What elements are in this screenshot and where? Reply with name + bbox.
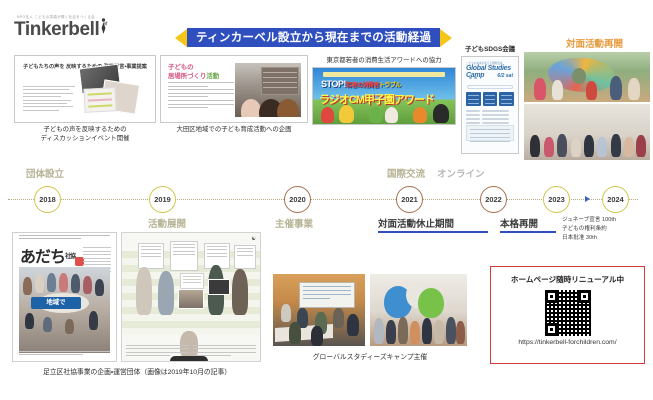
person-silhouette [136, 267, 152, 315]
timeline-node-2019[interactable]: 2019 [149, 186, 176, 213]
person-silhouette [277, 99, 299, 117]
panel-ibasho: 子どもの 居場所づくり活動 大田区地域での子ども育成活動への企画 [160, 55, 308, 135]
arrow-right-icon [440, 29, 452, 47]
qr-eye [545, 323, 558, 336]
mascot-icon [433, 104, 449, 123]
qr-url[interactable]: https://tinkerbell-forchildren.com/ [518, 339, 616, 346]
timeline-label-hosted-projects: 主催事業 [275, 216, 313, 230]
magazine-header-lines [13, 233, 116, 241]
poster-card [483, 92, 498, 106]
timeline-label-international: 国際交流 [387, 166, 425, 180]
bookshelf-shape [261, 67, 299, 95]
magazine-brand-text: あだち [20, 249, 65, 266]
person-silhouette [65, 319, 74, 334]
magazine-ribbon: 地域で [31, 297, 81, 309]
timeline-node-2018[interactable]: 2018 [34, 186, 61, 213]
poster-search-bar [467, 85, 513, 89]
person-silhouette [333, 308, 344, 328]
timeline-node-2022[interactable]: 2022 [480, 186, 507, 213]
sdgs-title: 子どもSDGS会議 [461, 44, 519, 53]
person-silhouette [59, 273, 68, 292]
photo-card [83, 87, 116, 113]
spread-bottom-text [126, 345, 256, 358]
poster-yellow-text: トラブル [379, 83, 401, 89]
person-silhouette [544, 137, 554, 157]
website-qr-box[interactable]: ホームページ随時リニューアル中 https://tinkerbell-forch… [490, 266, 645, 364]
timeline-underline [378, 231, 488, 233]
person-silhouette [456, 321, 465, 344]
person-silhouette [434, 320, 444, 344]
mascot-icon [385, 107, 398, 123]
mural-activity-photo [524, 52, 650, 102]
person-silhouette [636, 135, 646, 157]
article-spread-photo: ☯ [121, 232, 261, 362]
panel-sdgs: 子どもSDGS会議 こどもの未来を考える国際会議 Global Studies … [461, 44, 519, 154]
policy-doc-photos [76, 64, 148, 118]
timeline-node-2024[interactable]: 2024 [602, 186, 629, 213]
person-silhouette [530, 135, 540, 157]
qr-eye [545, 290, 558, 303]
speech-bubble [138, 243, 164, 269]
person-silhouette [571, 138, 581, 157]
speech-bubble [234, 245, 256, 269]
person-silhouette [610, 76, 622, 100]
title-banner: ティンカーベル設立から現在までの活動経過 [175, 28, 452, 47]
poster-card [466, 92, 481, 106]
timeline-node-2020[interactable]: 2020 [284, 186, 311, 213]
ibasho-photo [235, 63, 301, 117]
timeline-underline [500, 231, 556, 233]
consumer-award-title: 東京都若者の消費生活アワードへの協力 [312, 55, 456, 64]
person-silhouette [422, 318, 432, 344]
person-silhouette [534, 78, 546, 100]
magazine-footer-lines [19, 349, 110, 357]
person-silhouette [43, 317, 52, 332]
person-silhouette [25, 313, 34, 329]
bicycle-icon: ⚭⚭ [468, 75, 478, 82]
timeline-label-full-restart: 本格再開 [500, 216, 538, 230]
projector-screen [299, 282, 355, 308]
tinkerbell-logo: NPO法人 こどもの笑顔が輝く社会をつくる会 Tinkerbell [14, 14, 99, 39]
mascot-icon [321, 107, 334, 123]
timeline-label-online: オンライン [437, 166, 485, 180]
poster-detail-rows [466, 110, 514, 126]
ibasho-doc-title: 子どもの 居場所づくり活動 [168, 63, 219, 82]
spread-held-card [208, 279, 230, 295]
qr-code-icon[interactable] [545, 290, 591, 336]
person-silhouette [289, 322, 301, 344]
sdgs-poster: こどもの未来を考える国際会議 Global Studies Camp 6/2 s… [461, 56, 519, 154]
poster-card-row [466, 92, 514, 106]
poster-stop-text: STOP! [321, 79, 346, 89]
person-silhouette [624, 137, 634, 157]
person-silhouette [586, 81, 597, 100]
panel-caption: 大田区地域での子ども育成活動への企画 [160, 126, 308, 135]
ibasho-body-lines [168, 82, 234, 111]
arrow-left-icon [175, 29, 187, 47]
panel-consumer-award: 東京都若者の消費生活アワードへの協力 STOP!若者の消費者トラブル ラジオCM… [312, 55, 456, 125]
person-silhouette [47, 273, 56, 292]
person-silhouette [552, 80, 563, 100]
person-silhouette [158, 271, 174, 315]
mural-hole-shape [572, 68, 586, 84]
magazine-brand-suffix: 社協 [65, 254, 75, 260]
mascot-icon [339, 105, 354, 123]
spread-note [180, 273, 204, 289]
gsc-workshop-photo [273, 274, 365, 346]
slide-canvas: NPO法人 こどもの笑顔が輝く社会をつくる会 Tinkerbell ティンカーベ… [0, 0, 653, 400]
speech-bubble [170, 241, 198, 271]
poster-band [323, 72, 445, 77]
person-silhouette [89, 311, 98, 330]
person-silhouette [241, 99, 261, 117]
fairy-icon [99, 17, 108, 34]
timeline-node-2021[interactable]: 2021 [396, 186, 423, 213]
person-silhouette [232, 269, 248, 315]
group-photo [524, 104, 650, 160]
poster-headline-1: STOP!若者の消費者トラブル [321, 79, 401, 89]
timeline-label-founding: 団体設立 [26, 166, 64, 180]
panel-policy-proposal: 子どもたちの声を 反映するための 政策提言・事業提案 子どもの声を反映するための… [14, 55, 156, 143]
spread-logo: ☯ [252, 236, 256, 242]
magazine-photo: 地域で [19, 267, 110, 353]
person-silhouette [410, 321, 420, 344]
mascot-icon [413, 107, 427, 123]
person-silhouette [386, 320, 396, 344]
timeline-label-suspension: 対面活動休止期間 [378, 216, 454, 230]
ibasho-title-line1: 子どもの [168, 64, 194, 71]
timeline-arrow-icon [585, 196, 590, 202]
poster-card [499, 92, 514, 106]
consumer-award-poster: STOP!若者の消費者トラブル ラジオCM甲子園アワード [312, 67, 456, 125]
spread-inset-photo [178, 289, 204, 309]
person-silhouette [398, 317, 408, 344]
timeline-label-expansion: 活動展開 [148, 216, 186, 230]
person-silhouette [95, 279, 104, 296]
person-silhouette [83, 276, 92, 294]
person-silhouette [584, 135, 594, 157]
adachi-magazine-cover: あだち社協 地域で [12, 232, 117, 362]
logo-wordmark: Tinkerbell [14, 20, 99, 39]
person-silhouette [628, 78, 640, 100]
ibasho-title-line2: 居場所づくり [168, 73, 206, 80]
person-silhouette [374, 318, 384, 344]
balloon-shape [418, 288, 444, 318]
ibasho-title-line3: 活動 [206, 73, 219, 80]
panel-caption: 子どもの声を反映するための ディスカッションイベント開催 [14, 126, 156, 143]
poster-red-text: 若者の消費者 [346, 83, 379, 89]
person-silhouette [446, 317, 456, 344]
person-silhouette [611, 134, 621, 157]
poster-footer-box [466, 125, 514, 141]
person-silhouette [35, 274, 44, 293]
timeline-note-2024: ジュネーブ宣言 100th 子どもの権利条約 日本批准 30th [562, 216, 616, 243]
gsc-group-photo [370, 274, 467, 346]
qr-eye [578, 290, 591, 303]
person-silhouette [23, 277, 32, 295]
adachi-caption: 足立区社協事業の企画・運営団体（画像は2019年10月の記事） [12, 366, 262, 376]
timeline-node-2023[interactable]: 2023 [543, 186, 570, 213]
qr-title: ホームページ随時リニューアル中 [511, 274, 624, 285]
person-silhouette [557, 134, 567, 157]
person-silhouette [71, 274, 80, 293]
person-silhouette [281, 304, 291, 322]
person-silhouette [311, 326, 323, 346]
logo-text: Tinkerbell [14, 19, 99, 40]
ibasho-doc-thumbnail: 子どもの 居場所づくり活動 [160, 55, 308, 123]
magazine-brand: あだち社協 [20, 243, 75, 267]
banner-title: ティンカーベル設立から現在までの活動経過 [187, 28, 440, 47]
sdgs-poster-date: 6/2 sat [497, 73, 513, 79]
resume-activities-title: 対面活動再開 [566, 36, 623, 50]
mascot-icon [369, 107, 382, 123]
policy-doc-thumbnail: 子どもたちの声を 反映するための 政策提言・事業提案 [14, 55, 156, 123]
person-silhouette [347, 314, 359, 336]
magazine-ribbon-text: 地域で [31, 297, 81, 309]
person-silhouette [597, 137, 607, 157]
gsc-caption: グローバルスタディーズキャンプ主催 [273, 351, 467, 361]
policy-doc-body-lines [23, 86, 75, 113]
poster-headline-2: ラジオCM甲子園アワード [319, 91, 434, 107]
